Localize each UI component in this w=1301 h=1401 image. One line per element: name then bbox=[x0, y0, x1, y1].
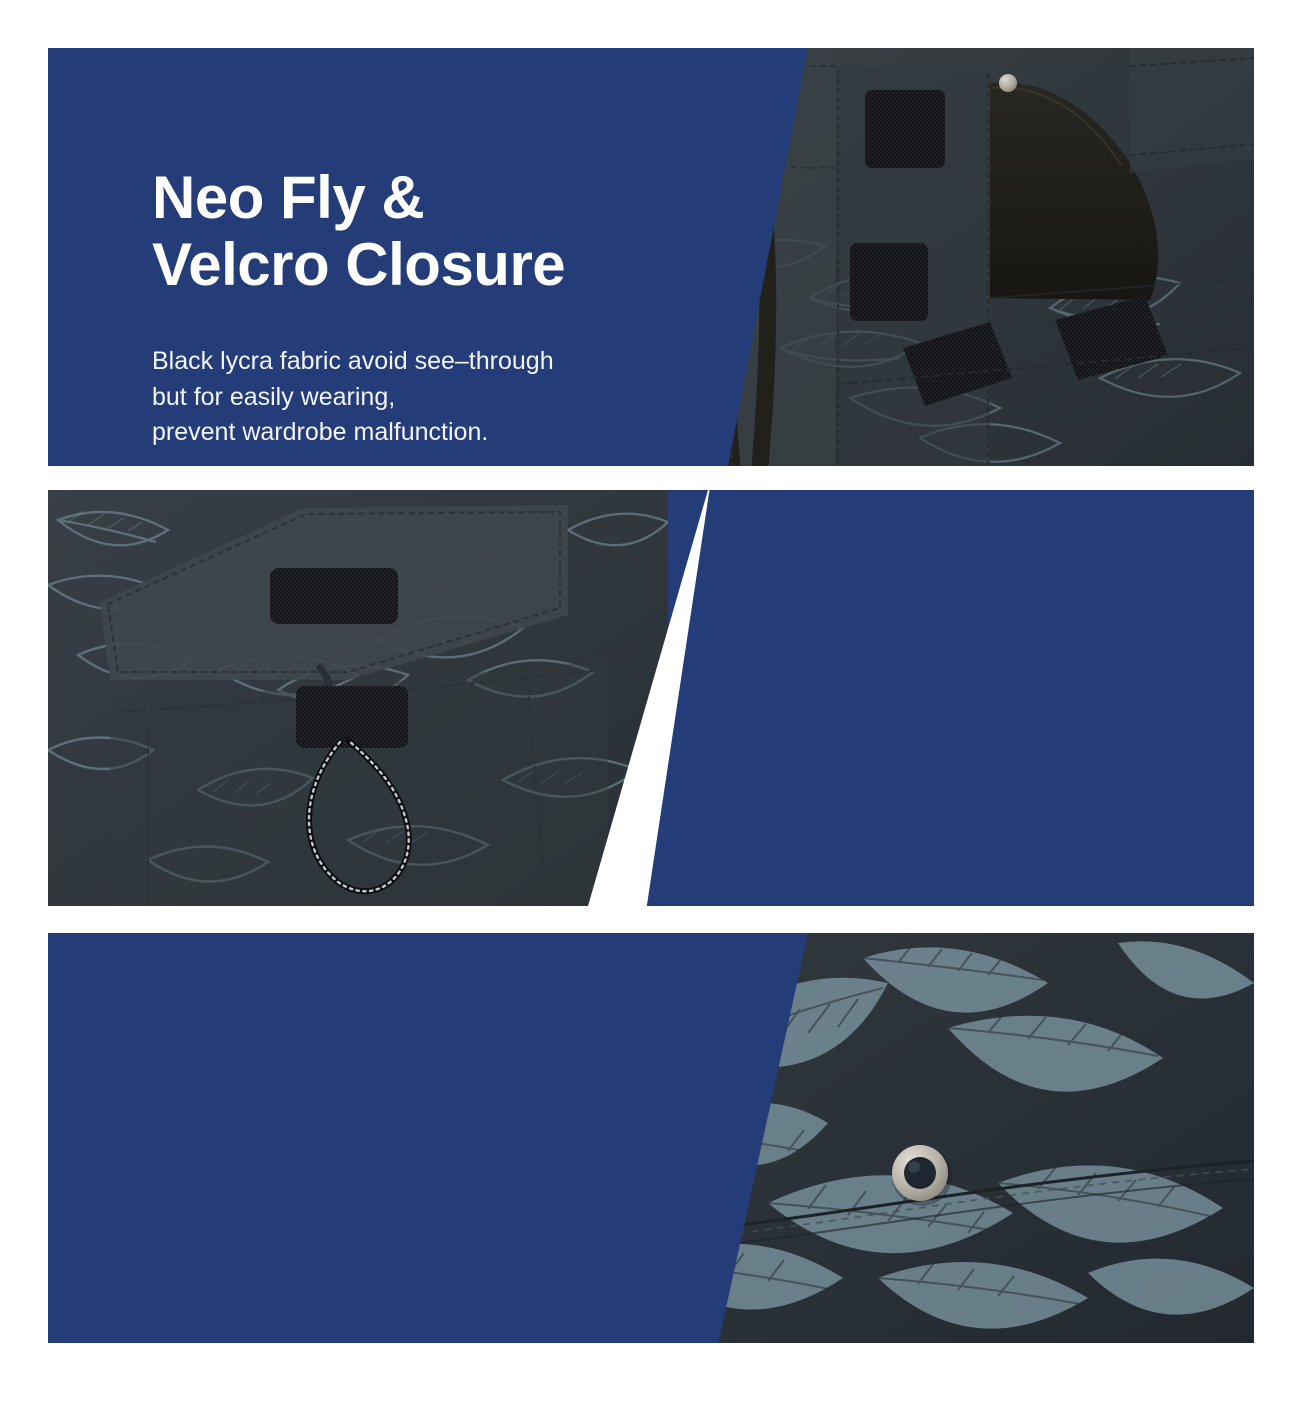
feature-panel-key-holder: Key Holder To keep your surf brush and k… bbox=[48, 490, 1254, 906]
panel-1-text-block: Neo Fly & Velcro Closure Black lycra fab… bbox=[152, 164, 565, 451]
product-photo-key-holder bbox=[48, 490, 668, 906]
panel-1-title: Neo Fly & Velcro Closure bbox=[152, 164, 565, 298]
panel-1-description: Black lycra fabric avoid see–through but… bbox=[152, 344, 565, 451]
feature-panel-rear-pocket-eyelet: Rear Pocket Eyelet Eyelets on the back o… bbox=[48, 933, 1254, 1343]
panel-3-blue-background bbox=[48, 933, 808, 1343]
key-holder-photo-illustration bbox=[48, 490, 668, 906]
product-feature-infographic: Neo Fly & Velcro Closure Black lycra fab… bbox=[0, 0, 1301, 1401]
feature-panel-neo-fly-velcro-closure: Neo Fly & Velcro Closure Black lycra fab… bbox=[48, 48, 1254, 466]
